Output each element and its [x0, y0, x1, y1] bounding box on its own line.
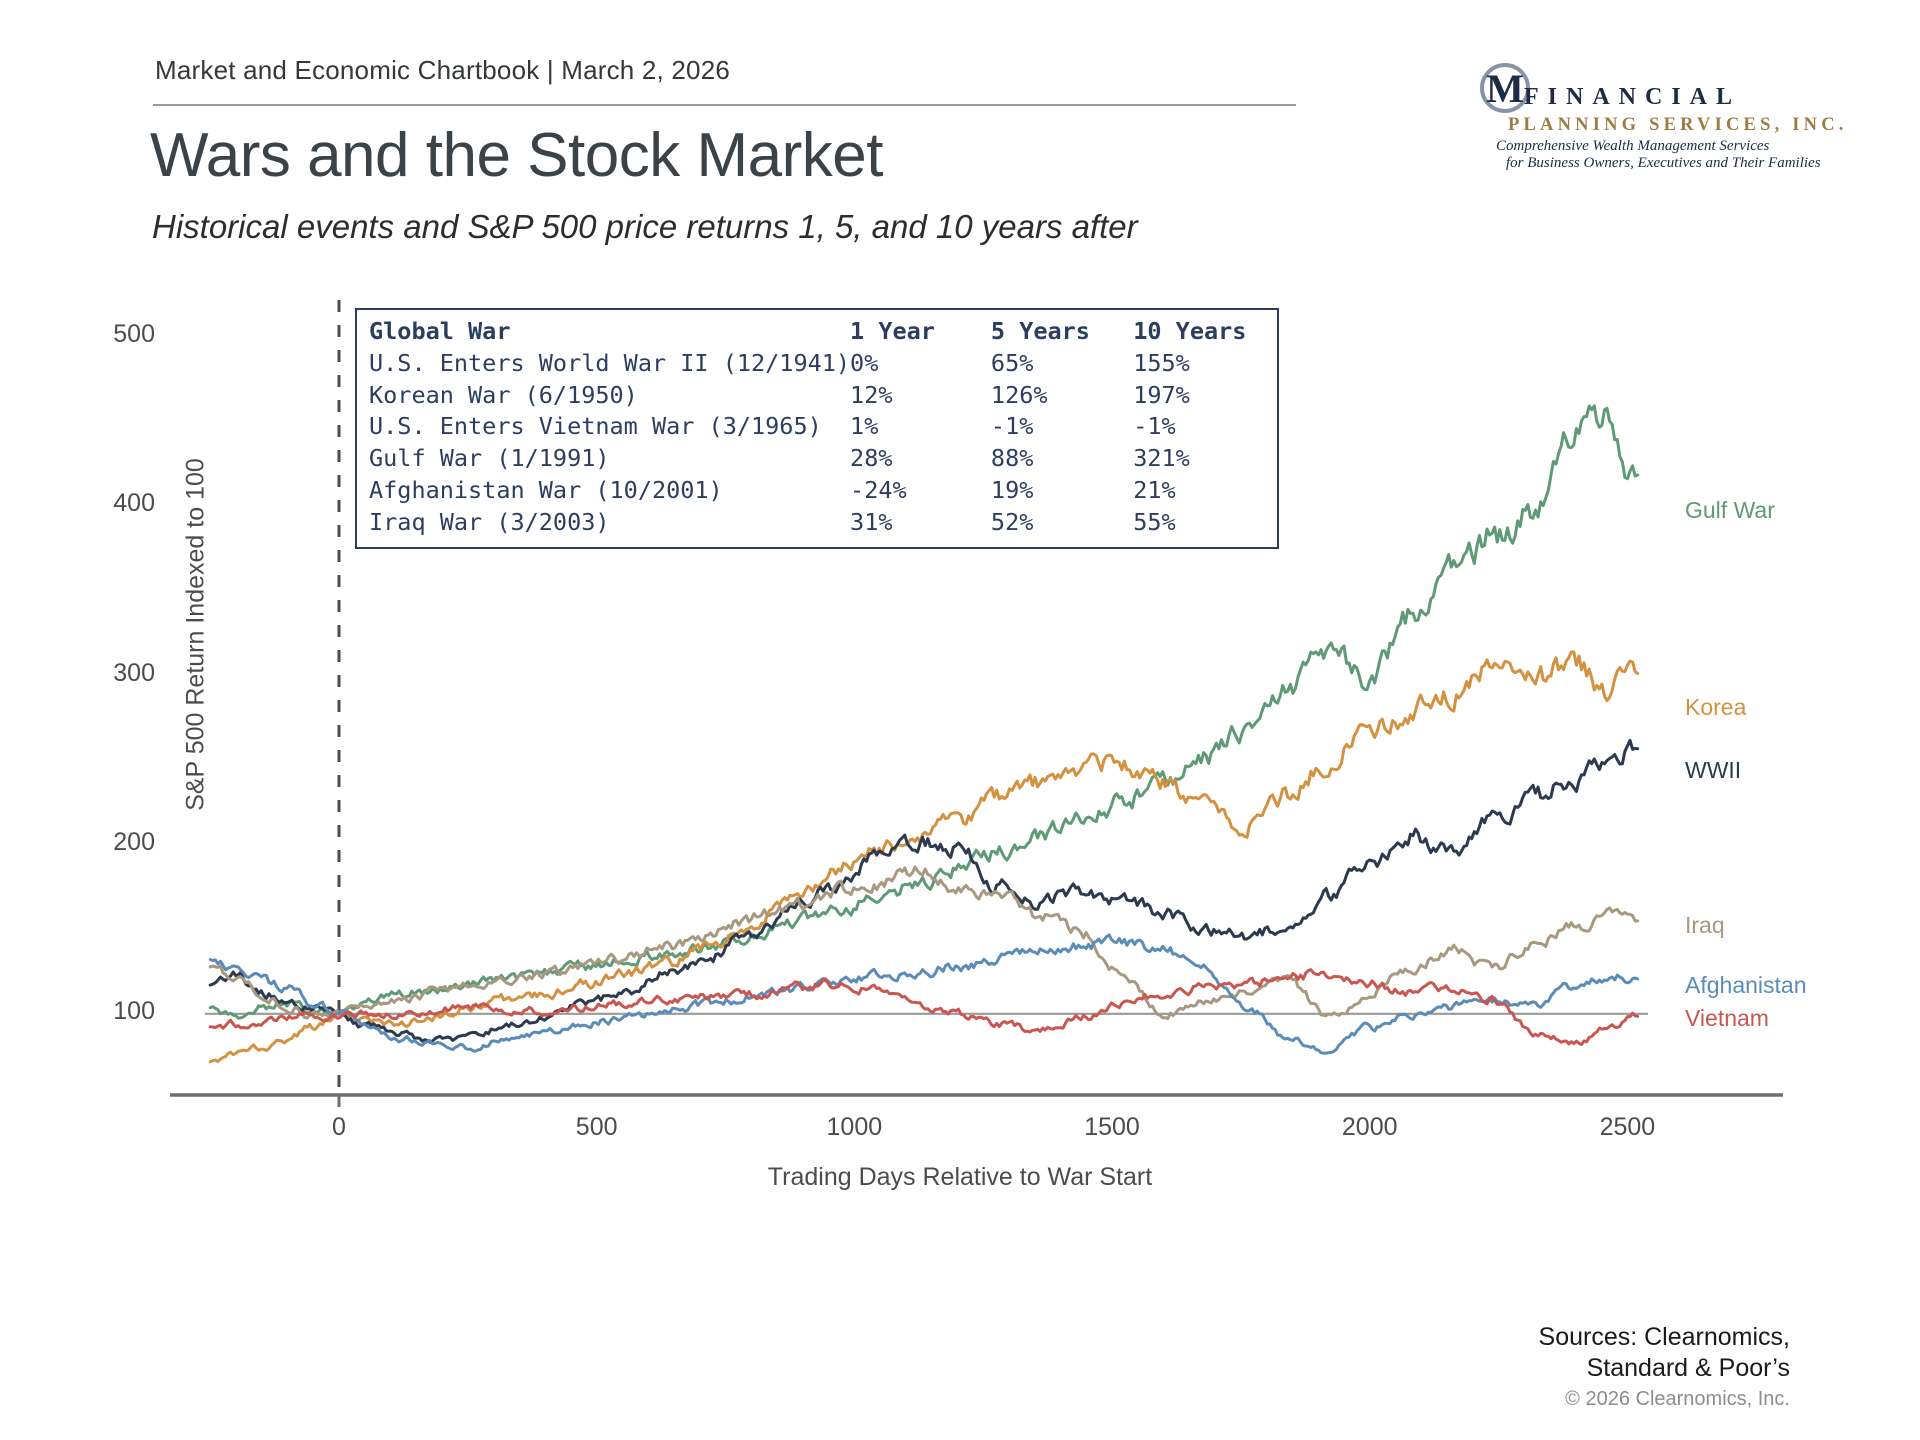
table-cell: 126%: [991, 380, 1133, 412]
table-cell: Iraq War (3/2003): [357, 507, 850, 539]
y-axis-tick-label: 200: [75, 828, 155, 857]
series-label-vietnam: Vietnam: [1685, 1005, 1769, 1032]
table-cell: 0%: [850, 348, 991, 380]
table-row: U.S. Enters Vietnam War (3/1965)1%-1%-1%: [357, 411, 1277, 443]
table-cell: Korean War (6/1950): [357, 380, 850, 412]
column-header: 1 Year: [850, 316, 991, 348]
x-axis-tick-label: 1500: [1057, 1113, 1167, 1142]
series-line-wwii: [210, 740, 1638, 1042]
war-returns-table: Global War1 Year5 Years10 YearsU.S. Ente…: [355, 308, 1279, 549]
wars-stock-market-chart: S&P 500 Return Indexed to 100 Trading Da…: [0, 0, 1920, 1440]
copyright-note: © 2026 Clearnomics, Inc.: [1565, 1388, 1790, 1411]
series-line-iraq: [210, 867, 1638, 1019]
y-axis-tick-label: 500: [75, 320, 155, 349]
series-label-afghanistan: Afghanistan: [1685, 972, 1806, 999]
table-cell: 88%: [991, 443, 1133, 475]
table-cell: 19%: [991, 475, 1133, 507]
table-cell: -1%: [1133, 411, 1277, 443]
table-row: Gulf War (1/1991)28%88%321%: [357, 443, 1277, 475]
column-header: 5 Years: [991, 316, 1133, 348]
table-cell: 21%: [1133, 475, 1277, 507]
y-axis-tick-label: 400: [75, 489, 155, 518]
x-axis-tick-label: 2000: [1315, 1113, 1425, 1142]
table-row: Korean War (6/1950)12%126%197%: [357, 380, 1277, 412]
table-row: U.S. Enters World War II (12/1941)0%65%1…: [357, 348, 1277, 380]
series-label-korea: Korea: [1685, 694, 1746, 721]
war-returns-grid: Global War1 Year5 Years10 YearsU.S. Ente…: [357, 316, 1277, 539]
table-row: Iraq War (3/2003)31%52%55%: [357, 507, 1277, 539]
table-row: Afghanistan War (10/2001)-24%19%21%: [357, 475, 1277, 507]
table-cell: 55%: [1133, 507, 1277, 539]
sources-line-2: Standard & Poor’s: [1539, 1353, 1790, 1384]
table-cell: 52%: [991, 507, 1133, 539]
x-axis-tick-label: 0: [284, 1113, 394, 1142]
table-cell: 321%: [1133, 443, 1277, 475]
series-label-iraq: Iraq: [1685, 912, 1725, 939]
series-line-korea: [210, 652, 1638, 1062]
table-cell: 197%: [1133, 380, 1277, 412]
series-label-wwii: WWII: [1685, 757, 1741, 784]
table-cell: Gulf War (1/1991): [357, 443, 850, 475]
table-cell: U.S. Enters World War II (12/1941): [357, 348, 850, 380]
table-cell: Afghanistan War (10/2001): [357, 475, 850, 507]
table-cell: 28%: [850, 443, 991, 475]
x-axis-tick-label: 2500: [1572, 1113, 1682, 1142]
sources-line-1: Sources: Clearnomics,: [1539, 1322, 1790, 1353]
column-header: 10 Years: [1133, 316, 1277, 348]
table-cell: 12%: [850, 380, 991, 412]
series-line-vietnam: [210, 970, 1638, 1045]
sources-note: Sources: Clearnomics, Standard & Poor’s: [1539, 1322, 1790, 1383]
x-axis-tick-label: 500: [542, 1113, 652, 1142]
table-cell: 155%: [1133, 348, 1277, 380]
table-cell: -1%: [991, 411, 1133, 443]
plot-canvas: [0, 0, 1920, 1440]
table-cell: 1%: [850, 411, 991, 443]
table-header-row: Global War1 Year5 Years10 Years: [357, 316, 1277, 348]
column-header: Global War: [357, 316, 850, 348]
table-cell: 31%: [850, 507, 991, 539]
y-axis-tick-label: 100: [75, 997, 155, 1026]
table-cell: 65%: [991, 348, 1133, 380]
table-cell: -24%: [850, 475, 991, 507]
x-axis-tick-label: 1000: [799, 1113, 909, 1142]
table-cell: U.S. Enters Vietnam War (3/1965): [357, 411, 850, 443]
series-label-gulf-war: Gulf War: [1685, 497, 1775, 524]
y-axis-tick-label: 300: [75, 659, 155, 688]
